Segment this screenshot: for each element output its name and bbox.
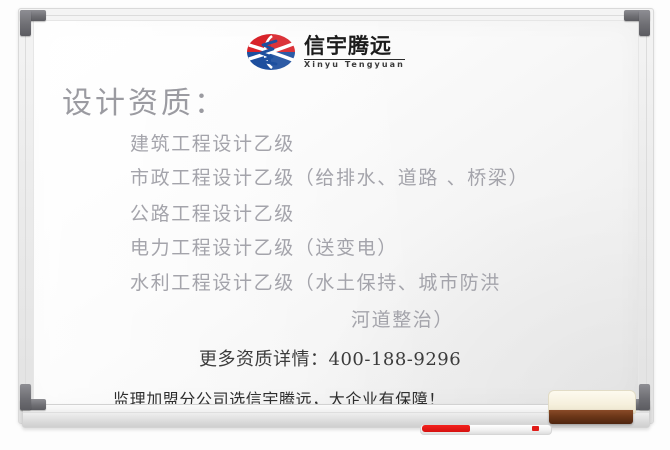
marker-tip — [532, 426, 539, 431]
corner-bracket-top-left — [20, 10, 46, 36]
qualification-item-3: 公路工程设计乙级 — [130, 199, 295, 226]
corner-bracket-top-right — [624, 10, 650, 36]
qualification-item-1: 建筑工程设计乙级 — [130, 129, 295, 156]
qualification-item-4: 电力工程设计乙级（送变电） — [130, 233, 398, 260]
qualification-item-2: 市政工程设计乙级（给排水、道路 、桥梁） — [130, 163, 529, 190]
qualification-item-5-continued: 河道整治） — [351, 305, 454, 332]
whiteboard-scene: 信宇腾远 Xinyu Tengyuan 设计资质： 建筑工程设计乙级 市政工程设… — [0, 0, 670, 450]
whiteboard-eraser[interactable] — [548, 390, 634, 426]
hotline-text: 更多资质详情：400-188-9296 — [199, 345, 461, 371]
company-logo: 信宇腾远 Xinyu Tengyuan — [246, 33, 405, 71]
logo-name-en: Xinyu Tengyuan — [304, 59, 405, 69]
marker-cap — [422, 425, 470, 432]
eraser-wood-base — [549, 410, 633, 424]
red-whiteboard-marker[interactable] — [420, 424, 550, 433]
board-title: 设计资质： — [62, 78, 227, 122]
corner-bracket-bottom-left — [20, 384, 46, 410]
xinyu-tengyuan-emblem-icon — [246, 33, 296, 71]
logo-name-cn: 信宇腾远 — [304, 36, 405, 57]
qualification-item-5: 水利工程设计乙级（水土保持、城市防洪 — [130, 268, 501, 295]
